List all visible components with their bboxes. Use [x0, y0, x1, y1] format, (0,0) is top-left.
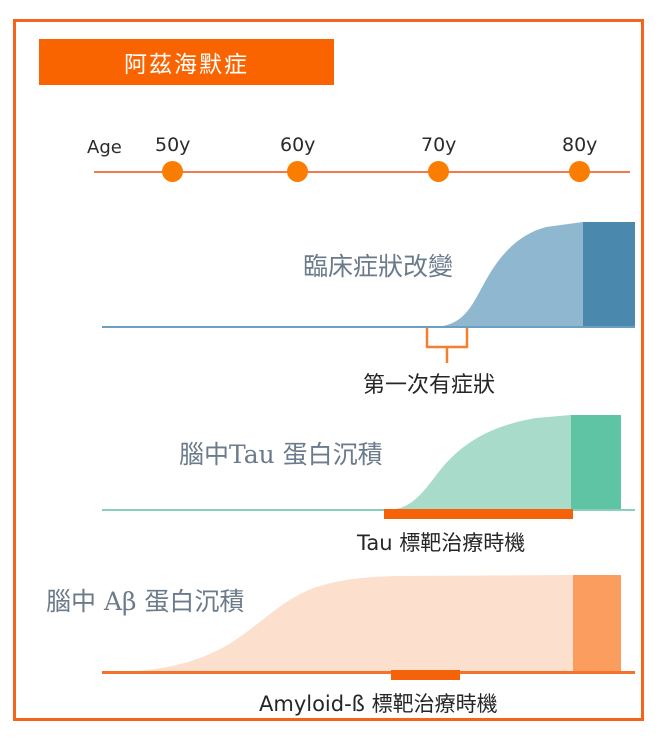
amyloid-therapy-window: Amyloid-ß 標靶治療時機: [16, 670, 647, 730]
bracket-icon: [16, 322, 647, 402]
axis-dot-70: [428, 161, 449, 182]
infographic-card: 阿茲海默症 Age 50y 60y 70y 80y 臨床症狀改變 第一次有症狀: [13, 19, 644, 721]
panel-tau: 腦中Tau 蛋白沉積: [16, 397, 647, 527]
clinical-series-label: 臨床症狀改變: [303, 247, 453, 283]
axis-dot-50: [162, 161, 183, 182]
axis-dot-80: [569, 161, 590, 182]
tau-therapy-bar: [384, 509, 573, 519]
first-symptom-label: 第一次有症狀: [363, 367, 495, 399]
axis-label-60: 60y: [280, 134, 315, 156]
tau-therapy-label: Tau 標靶治療時機: [357, 527, 525, 557]
axis-label-50: 50y: [155, 134, 190, 156]
axis-title: Age: [87, 137, 122, 158]
axis-label-80: 80y: [562, 134, 597, 156]
amyloid-area-chart: [16, 562, 647, 687]
panel-amyloid: 腦中 Aβ 蛋白沉積: [16, 562, 647, 687]
bracket-path: [427, 328, 467, 363]
title-banner: 阿茲海默症: [39, 39, 334, 85]
age-axis: Age 50y 60y 70y 80y: [16, 117, 647, 197]
axis-dot-60: [287, 161, 308, 182]
page-title: 阿茲海默症: [124, 45, 249, 79]
first-symptom-callout: 第一次有症狀: [16, 322, 647, 402]
tau-therapy-window: Tau 標靶治療時機: [16, 509, 647, 569]
axis-label-70: 70y: [421, 134, 456, 156]
tau-cap-block: [571, 415, 621, 510]
amyloid-series-label: 腦中 Aβ 蛋白沉積: [46, 582, 244, 618]
amyloid-cap-block: [573, 575, 621, 672]
amyloid-therapy-label: Amyloid-ß 標靶治療時機: [259, 688, 498, 718]
tau-series-label: 腦中Tau 蛋白沉積: [179, 435, 383, 471]
amyloid-therapy-bar: [391, 670, 460, 680]
clinical-cap-block: [583, 222, 635, 327]
